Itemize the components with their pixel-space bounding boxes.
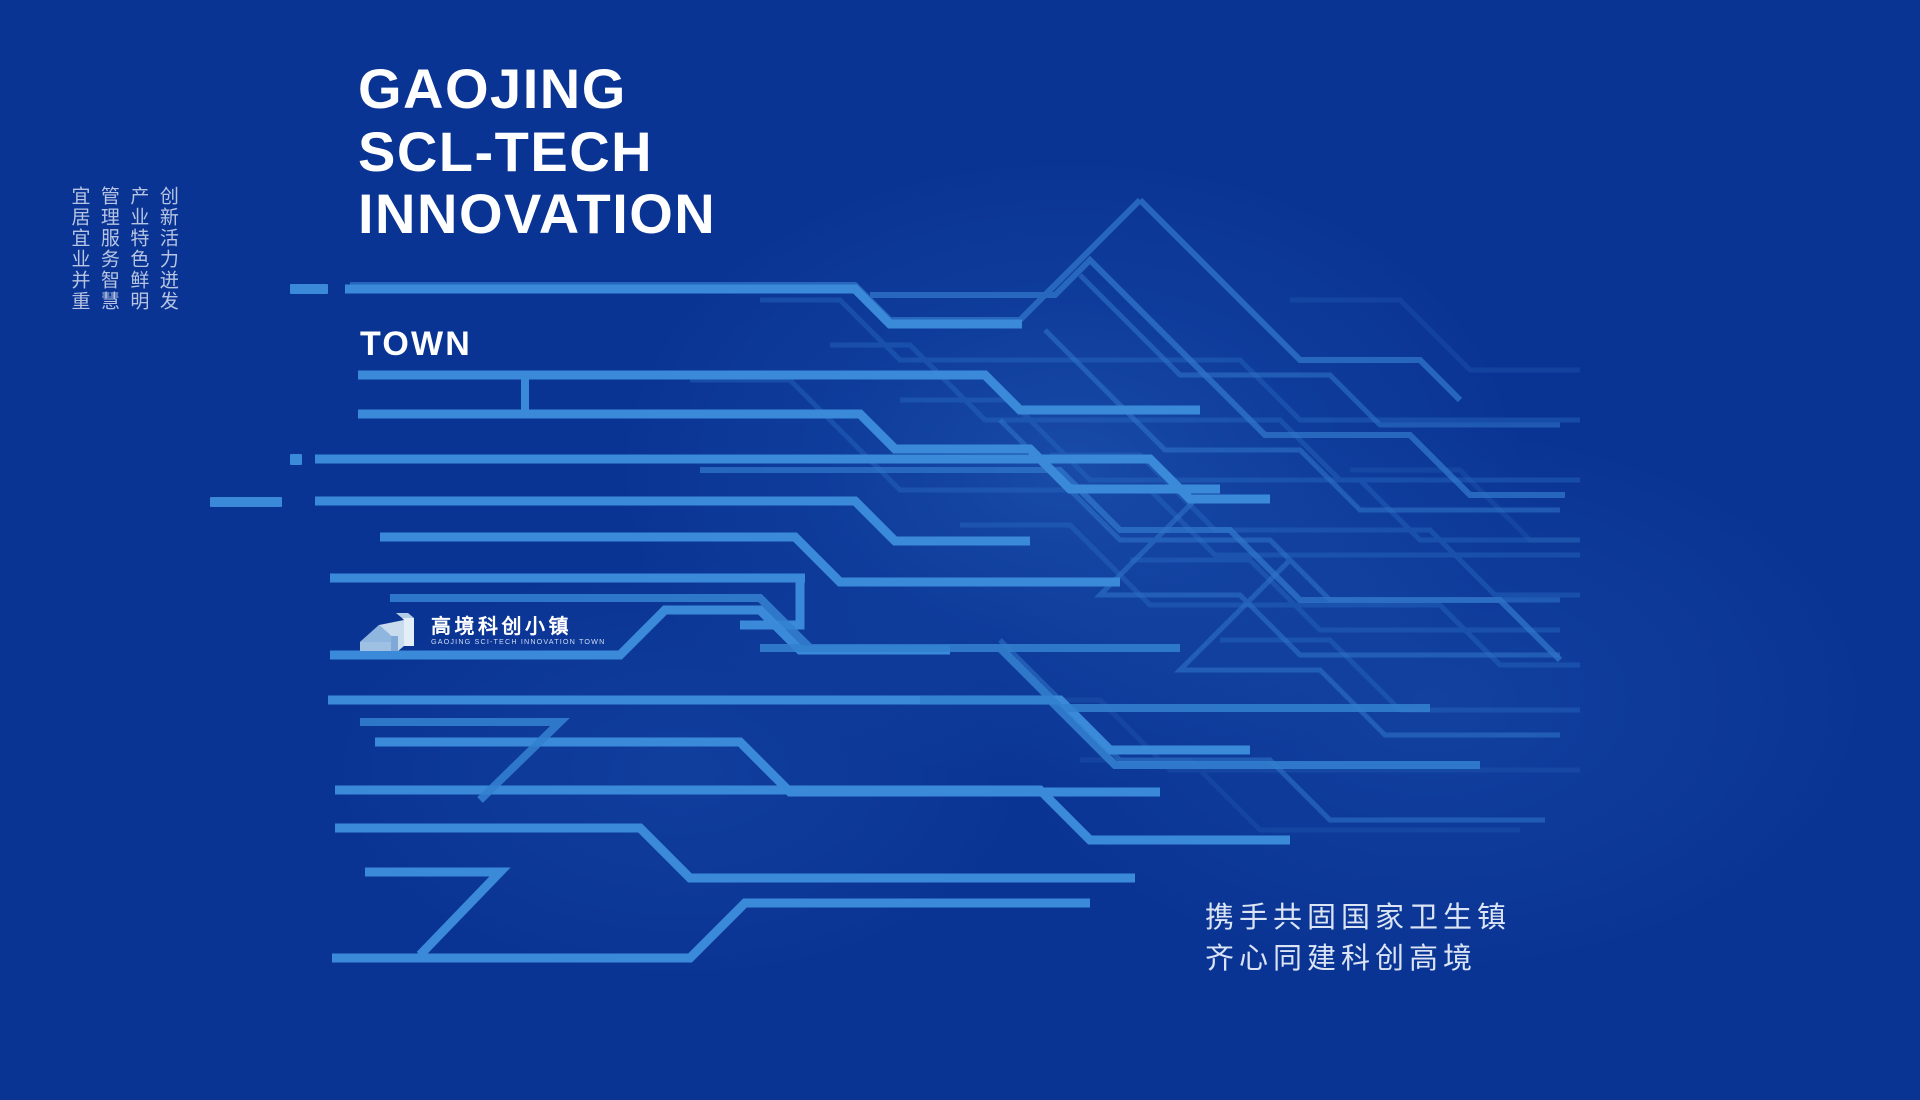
vertical-slogan-col-3: 管理服务智慧 <box>95 186 120 312</box>
headline-line-2: SCL-TECH <box>358 121 716 184</box>
logo-english-name: GAOJING SCI-TECH INNOVATION TOWN <box>431 638 605 645</box>
corner-slogan-line-2: 齐心同建科创高境 <box>1205 938 1511 979</box>
house-building-icon <box>358 608 420 653</box>
page-title: GAOJING SCL-TECH INNOVATION <box>358 58 716 246</box>
poster-canvas: 创新活力迸发 产业特色鲜明 管理服务智慧 宜居宜业并重 GAOJING SCL-… <box>0 0 1920 1100</box>
logo-chinese-name: 高境科创小镇 <box>431 616 605 636</box>
headline-line-3: INNOVATION <box>358 183 716 246</box>
vertical-slogan-col-1: 创新活力迸发 <box>154 186 179 312</box>
left-accent-dashes <box>210 284 328 507</box>
vertical-slogan: 创新活力迸发 产业特色鲜明 管理服务智慧 宜居宜业并重 <box>66 186 180 312</box>
corner-slogan-line-1: 携手共固国家卫生镇 <box>1205 897 1511 938</box>
brand-logo: 高境科创小镇 GAOJING SCI-TECH INNOVATION TOWN <box>358 608 605 653</box>
headline-line-1: GAOJING <box>358 58 716 121</box>
circuit-traces-background <box>0 0 1920 1100</box>
corner-slogan: 携手共固国家卫生镇 齐心同建科创高境 <box>1205 897 1511 979</box>
background-glow-right <box>980 420 1880 980</box>
circuit-traces-diagonal <box>0 0 1920 1100</box>
vertical-slogan-col-2: 产业特色鲜明 <box>125 186 150 312</box>
background-glow-upper <box>620 160 1520 780</box>
circuit-traces-foreground <box>0 0 1920 1100</box>
headline-subtitle: TOWN <box>360 325 472 364</box>
vertical-slogan-col-4: 宜居宜业并重 <box>66 186 91 312</box>
logo-text-block: 高境科创小镇 GAOJING SCI-TECH INNOVATION TOWN <box>431 616 605 645</box>
